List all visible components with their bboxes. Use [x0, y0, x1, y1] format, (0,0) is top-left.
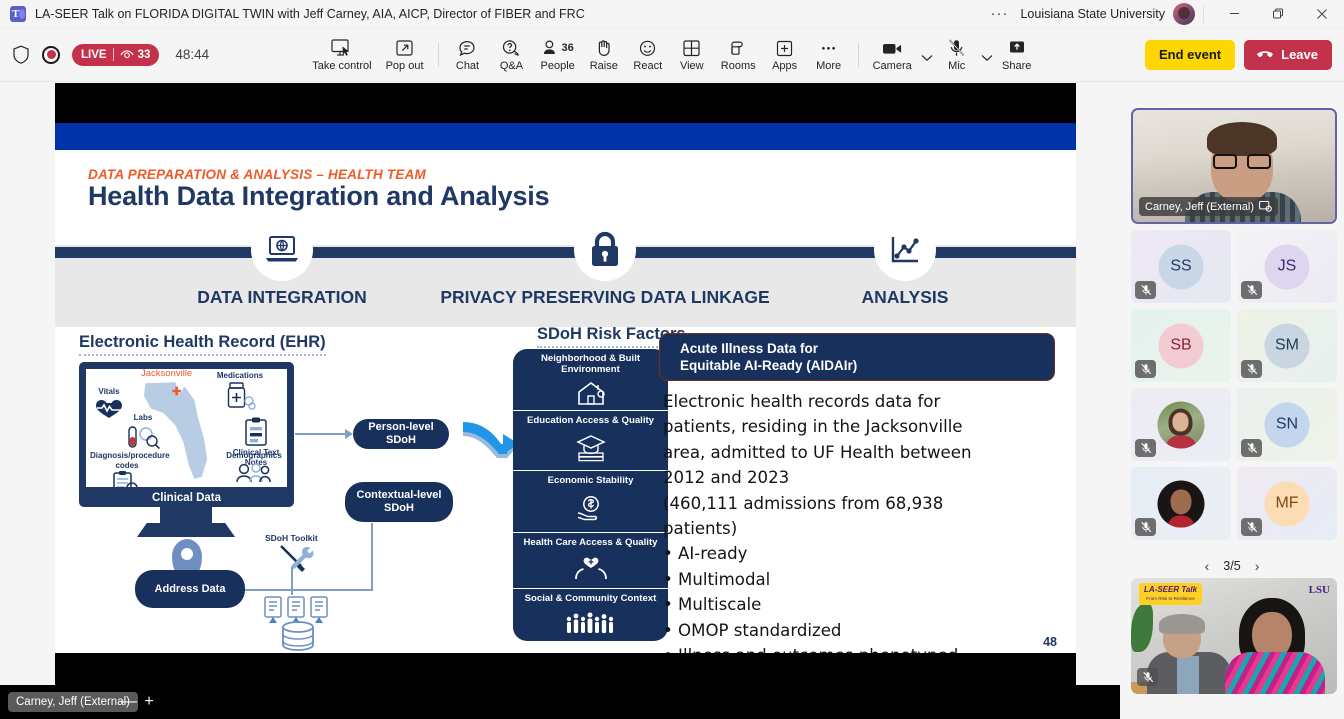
- room-person-left: [1147, 616, 1231, 694]
- mic-label: Mic: [948, 60, 965, 73]
- people-button[interactable]: 36 People: [534, 36, 582, 74]
- slide-eyebrow: DATA PREPARATION & ANALYSIS – HEALTH TEA…: [88, 167, 426, 182]
- raise-hand-button[interactable]: Raise: [582, 36, 626, 74]
- node-contextual-level-sdoh: Contextual-level SDoH: [345, 482, 453, 522]
- mic-muted-icon: [1241, 518, 1262, 536]
- sdoh-row-education: Education Access & Quality: [513, 411, 668, 471]
- body-bullet: • AI-ready: [663, 541, 1063, 566]
- participant-tile-photo-2[interactable]: [1131, 467, 1231, 540]
- body-line: 2012 and 2023: [663, 465, 1063, 490]
- camera-button[interactable]: Camera: [866, 36, 919, 74]
- slide-body-text: Electronic health records data for patie…: [663, 389, 1063, 653]
- connector-db-to-toolkit: [291, 567, 293, 595]
- slide-diagram: Electronic Health Record (EHR) Jacksonvi…: [55, 327, 1076, 653]
- house-icon: [576, 375, 606, 410]
- heart-pulse-icon: [94, 398, 124, 420]
- hand-dollar-icon: [574, 486, 608, 532]
- event-badge-subtitle: From Risk to Resilience: [1144, 594, 1197, 603]
- participant-tile-js[interactable]: JS: [1237, 230, 1337, 303]
- restore-icon[interactable]: [1256, 0, 1300, 28]
- avatar-initials: MF: [1265, 481, 1310, 526]
- qa-label: Q&A: [500, 60, 523, 73]
- view-button[interactable]: View: [670, 36, 714, 74]
- record-icon[interactable]: [42, 46, 60, 64]
- event-badge: LA-SEER Talk From Risk to Resilience: [1139, 583, 1202, 605]
- ehr-heading-text: Electronic Health Record (EHR): [79, 333, 326, 351]
- monitor-stand: [160, 507, 212, 525]
- pager-label: 3/5: [1223, 559, 1240, 573]
- leave-button[interactable]: Leave: [1244, 40, 1332, 70]
- organization-label: Louisiana State University: [1020, 7, 1173, 21]
- title-bar-left: LA-SEER Talk on FLORIDA DIGITAL TWIN wit…: [0, 6, 585, 22]
- database-icon: [277, 621, 319, 653]
- avatar-initials: SM: [1265, 323, 1310, 368]
- meeting-stage: DATA PREPARATION & ANALYSIS – HEALTH TEA…: [0, 83, 1120, 719]
- room-person-right: [1227, 598, 1323, 694]
- mic-muted-icon: [947, 38, 966, 59]
- pop-out-label: Pop out: [386, 60, 424, 73]
- hands-heart-icon: [573, 548, 609, 588]
- close-icon[interactable]: [1300, 0, 1344, 28]
- pager-next-button[interactable]: ›: [1255, 558, 1260, 574]
- pillar-label: PRIVACY PRESERVING DATA LINKAGE: [435, 287, 775, 308]
- connector-ehr-to-person: [295, 433, 349, 435]
- body-line: patients): [663, 516, 1063, 541]
- slide-top-band: [55, 123, 1076, 150]
- viewer-count: 33: [138, 49, 151, 61]
- ehr-monitor: Jacksonville ✚ Vitals Medications: [79, 362, 294, 507]
- participant-row: MF: [1131, 467, 1337, 540]
- body-line: (460,111 admissions from 68,938: [663, 491, 1063, 516]
- apps-label: Apps: [772, 60, 797, 73]
- sdoh-row-healthcare: Health Care Access & Quality: [513, 533, 668, 589]
- more-button[interactable]: More: [807, 36, 851, 74]
- participant-row: SB SM: [1131, 309, 1337, 382]
- people-icon: [542, 39, 560, 58]
- share-up-icon: [1007, 38, 1027, 59]
- body-line: area, admitted to UF Health between: [663, 440, 1063, 465]
- view-grid-icon: [682, 38, 701, 59]
- shared-content-surface[interactable]: DATA PREPARATION & ANALYSIS – HEALTH TEA…: [55, 83, 1076, 687]
- arrowhead: [345, 429, 353, 439]
- body-bullet: • Multimodal: [663, 567, 1063, 592]
- node-address-data: Address Data: [135, 570, 245, 608]
- avatar-initials: JS: [1265, 244, 1310, 289]
- take-control-label: Take control: [312, 60, 371, 73]
- zoom-out-button[interactable]: —: [120, 692, 138, 712]
- pillar-privacy-linkage: PRIVACY PRESERVING DATA LINKAGE: [435, 219, 775, 308]
- minimize-icon[interactable]: [1212, 0, 1256, 28]
- window-title-bar: LA-SEER Talk on FLORIDA DIGITAL TWIN wit…: [0, 0, 1344, 28]
- divider: [438, 43, 439, 67]
- callout-line-1: Acute Illness Data for: [680, 340, 1054, 357]
- participant-tile-ss[interactable]: SS: [1131, 230, 1231, 303]
- participant-tile-mf[interactable]: MF: [1237, 467, 1337, 540]
- react-button[interactable]: React: [626, 36, 670, 74]
- avatar-photo: [1158, 401, 1205, 448]
- people-badge-count: 36: [562, 42, 574, 54]
- more-label: More: [816, 60, 841, 73]
- mic-muted-icon: [1241, 360, 1262, 378]
- toolbar-right-group: End event Leave: [1145, 40, 1344, 70]
- zoom-in-button[interactable]: +: [140, 692, 158, 712]
- mic-chevron-down-icon[interactable]: [979, 48, 995, 62]
- sdoh-toolkit-label: SDoH Toolkit: [265, 533, 318, 543]
- active-speaker-tile[interactable]: Carney, Jeff (External): [1131, 108, 1337, 224]
- participant-name-chip: Carney, Jeff (External): [1139, 197, 1278, 216]
- pop-out-icon: [395, 38, 415, 59]
- clipboard-search-icon: [112, 471, 142, 487]
- raise-label: Raise: [590, 60, 618, 73]
- mic-muted-icon: [1135, 360, 1156, 378]
- divider: [1203, 5, 1204, 23]
- mic-muted-icon: [1241, 281, 1262, 299]
- chat-icon: [458, 38, 478, 59]
- participant-name: Carney, Jeff (External): [1145, 201, 1254, 213]
- mic-muted-icon: [1135, 518, 1156, 536]
- chat-button[interactable]: Chat: [446, 36, 490, 74]
- end-event-button[interactable]: End event: [1145, 40, 1235, 70]
- react-label: React: [633, 60, 662, 73]
- avatar-initials: SS: [1159, 244, 1204, 289]
- node-person-level-sdoh: Person-level SDoH: [353, 419, 449, 449]
- connector-address-to-context: [245, 589, 373, 591]
- monitor-base: [137, 523, 235, 537]
- slide-title: Health Data Integration and Analysis: [88, 181, 549, 212]
- view-label: View: [680, 60, 704, 73]
- shield-icon[interactable]: [12, 45, 30, 64]
- map-marker-icon: ✚: [172, 385, 181, 398]
- mic-button[interactable]: Mic: [935, 36, 979, 74]
- apps-button[interactable]: Apps: [763, 36, 807, 74]
- sdoh-row-social: Social & Community Context: [513, 589, 668, 641]
- rooms-label: Rooms: [721, 60, 756, 73]
- people-group-icon: [234, 462, 274, 484]
- chat-label: Chat: [456, 60, 479, 73]
- teams-icon: [10, 6, 26, 22]
- body-bullet: • Illness and outcomes phenotyped: [663, 643, 1063, 653]
- participant-row: SS JS: [1131, 230, 1337, 303]
- elapsed-timer: 48:44: [175, 47, 209, 62]
- rooms-button[interactable]: Rooms: [714, 36, 763, 74]
- hangup-icon: [1256, 49, 1274, 61]
- pillar-data-integration: DATA INTEGRATION: [197, 219, 367, 308]
- presenter-hair: [1207, 122, 1277, 156]
- qa-button[interactable]: Q&A: [490, 36, 534, 74]
- participant-tile-photo-1[interactable]: [1131, 388, 1231, 461]
- presentation-slide[interactable]: DATA PREPARATION & ANALYSIS – HEALTH TEA…: [55, 123, 1076, 653]
- mic-muted-icon: [1135, 281, 1156, 299]
- roster-pager: ‹ 3/5 ›: [1120, 558, 1344, 574]
- mic-muted-icon: [1137, 668, 1158, 686]
- window-title: LA-SEER Talk on FLORIDA DIGITAL TWIN wit…: [35, 7, 585, 21]
- sdoh-row-neighborhood: Neighborhood & Built Environment: [513, 349, 668, 411]
- padlock-icon: [574, 219, 636, 281]
- pop-out-button[interactable]: Pop out: [379, 36, 431, 74]
- participant-grid: SS JS SB SM: [1131, 230, 1337, 546]
- callout-line-2: Equitable AI-Ready (AIDAIr): [680, 357, 1054, 374]
- mic-muted-icon: [1241, 439, 1262, 457]
- take-control-icon: [331, 38, 352, 59]
- leave-label: Leave: [1281, 47, 1318, 62]
- glasses-icon: [1213, 154, 1271, 169]
- camera-chevron-down-icon[interactable]: [919, 48, 935, 62]
- avatar-photo: [1158, 480, 1205, 527]
- ehr-item-medications: Medications: [210, 371, 270, 410]
- crowd-icon: [564, 604, 618, 641]
- title-bar-right: ··· Louisiana State University: [978, 0, 1344, 27]
- participant-tile-sn[interactable]: SN: [1237, 388, 1337, 461]
- toolbar-left-group: LIVE 33 48:44: [0, 44, 209, 66]
- share-button[interactable]: Share: [995, 36, 1039, 74]
- ehr-item-diagnosis-codes: Diagnosis/procedure codes: [90, 451, 164, 487]
- participant-row: SN: [1131, 388, 1337, 461]
- live-badge: LIVE 33: [72, 44, 159, 66]
- participant-tile-sm[interactable]: SM: [1237, 309, 1337, 382]
- room-video-tile[interactable]: LA-SEER Talk From Risk to Resilience LSU: [1131, 578, 1337, 694]
- aidair-callout: Acute Illness Data for Equitable AI-Read…: [659, 333, 1055, 381]
- meeting-toolbar: LIVE 33 48:44 Take control Pop out: [0, 28, 1344, 82]
- map-city-label: Jacksonville: [141, 369, 192, 379]
- sdoh-toolkit-icon: [277, 543, 317, 573]
- pillar-analysis: ANALYSIS: [820, 219, 990, 308]
- monitor-label: Clinical Data: [79, 492, 294, 504]
- clipboard-notes-icon: [243, 417, 269, 447]
- body-bullet: • OMOP standardized: [663, 618, 1063, 643]
- qa-icon: [501, 38, 522, 59]
- avatar-initials: SN: [1265, 402, 1310, 447]
- raise-hand-icon: [595, 38, 613, 59]
- mic-muted-icon: [1135, 439, 1156, 457]
- presenter-name-chip: Carney, Jeff (External): [8, 692, 138, 712]
- sdoh-row-economic: Economic Stability: [513, 471, 668, 533]
- live-label: LIVE: [81, 49, 107, 61]
- people-label: People: [541, 60, 575, 73]
- react-icon: [638, 38, 657, 59]
- connector-context-up: [371, 523, 373, 591]
- more-ellipsis-icon: [819, 38, 838, 59]
- avatar-initials: SB: [1159, 323, 1204, 368]
- ehr-item-vitals: Vitals: [92, 387, 126, 420]
- org-mark: LSU: [1309, 584, 1330, 596]
- slide-page-number: 48: [1043, 635, 1057, 649]
- ehr-item-demographics: Demographics: [222, 451, 286, 484]
- laptop-globe-icon: [251, 219, 313, 281]
- people-icon-group: 36: [542, 38, 574, 59]
- pillar-label: DATA INTEGRATION: [197, 287, 367, 308]
- take-control-button[interactable]: Take control: [305, 36, 378, 74]
- ehr-screen: Jacksonville ✚ Vitals Medications: [86, 369, 287, 487]
- ehr-heading: Electronic Health Record (EHR): [79, 333, 326, 356]
- ehr-item-labs: Labs: [126, 413, 160, 450]
- divider: [858, 43, 859, 67]
- apps-plus-icon: [775, 38, 794, 59]
- body-line: patients, residing in the Jacksonville: [663, 414, 1063, 439]
- participant-roster: Carney, Jeff (External) SS JS: [1120, 83, 1344, 719]
- avatar[interactable]: [1173, 3, 1195, 25]
- divider: [113, 48, 114, 61]
- body-line: Electronic health records data for: [663, 389, 1063, 414]
- pillar-label: ANALYSIS: [820, 287, 990, 308]
- sdoh-risk-factor-stack: Neighborhood & Built Environment Educati…: [513, 349, 668, 641]
- presenter-control-bar: Carney, Jeff (External) — +: [0, 685, 1120, 719]
- line-chart-icon: [874, 219, 936, 281]
- graduation-books-icon: [574, 426, 608, 470]
- viewer-count-group: 33: [120, 49, 151, 61]
- eye-icon: [120, 50, 134, 60]
- pager-prev-button[interactable]: ‹: [1205, 558, 1210, 574]
- participant-tile-sb[interactable]: SB: [1131, 309, 1231, 382]
- dotted-underline: [79, 354, 326, 356]
- share-label: Share: [1002, 60, 1031, 73]
- camera-icon: [881, 38, 904, 59]
- rooms-icon: [729, 38, 748, 59]
- window-overflow-icon[interactable]: ···: [978, 5, 1020, 22]
- body-bullet: • Multiscale: [663, 592, 1063, 617]
- event-badge-title: LA-SEER Talk: [1144, 585, 1197, 594]
- screen-share-icon: [1259, 201, 1272, 212]
- pill-bottle-icon: [223, 382, 257, 410]
- test-tube-icon: [126, 424, 162, 450]
- camera-label: Camera: [873, 60, 912, 73]
